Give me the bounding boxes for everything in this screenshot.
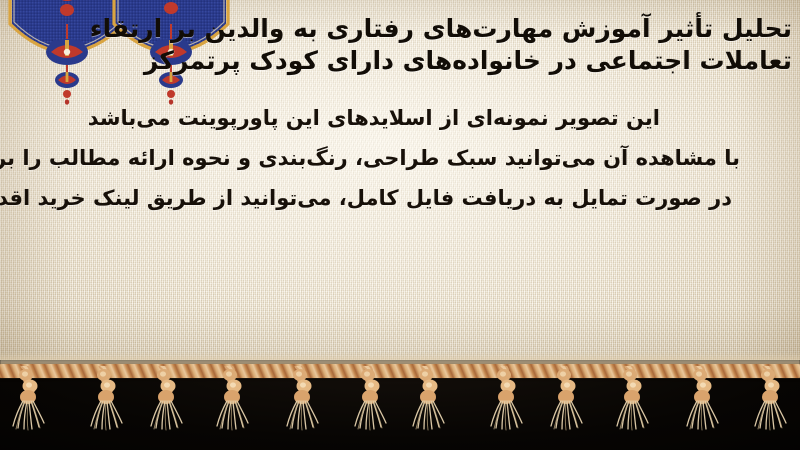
fringe-tassel [79,366,125,450]
slide-text-layer: تحلیل تأثیر آموزش مهارت‌های رفتاری به وا… [0,0,800,372]
fringe-tassel [746,366,792,450]
title-line-1: تحلیل تأثیر آموزش مهارت‌های رفتاری به وا… [8,12,792,45]
title-line-2: تعاملات اجتماعی در خانواده‌های دارای کود… [8,44,792,77]
body-line-3: در صورت تمایل به دریافت فایل کامل، می‌تو… [24,188,732,209]
fringe-tassel [142,366,188,450]
fringe-tassel [612,366,658,450]
page-title: تحلیل تأثیر آموزش مهارت‌های رفتاری به وا… [8,12,792,78]
fringe-tassel [346,366,392,450]
body-line-2: با مشاهده آن می‌توانید سبک طراحی، رنگ‌بن… [24,148,740,169]
fringe-tassel [408,366,454,450]
slide-body: این تصویر نمونه‌ای از اسلایدهای این پاور… [24,108,772,209]
slide-preview: تحلیل تأثیر آموزش مهارت‌های رفتاری به وا… [0,0,800,450]
fringe-tassel [8,366,54,450]
fringe-tassel [212,366,258,450]
fringe-tassel [542,366,588,450]
fringe-tassel [675,366,721,450]
carpet-fringe-tassels [0,366,800,450]
body-line-1: این تصویر نمونه‌ای از اسلایدهای این پاور… [24,108,660,129]
fringe-tassel [479,366,525,450]
fringe-tassel [275,366,321,450]
